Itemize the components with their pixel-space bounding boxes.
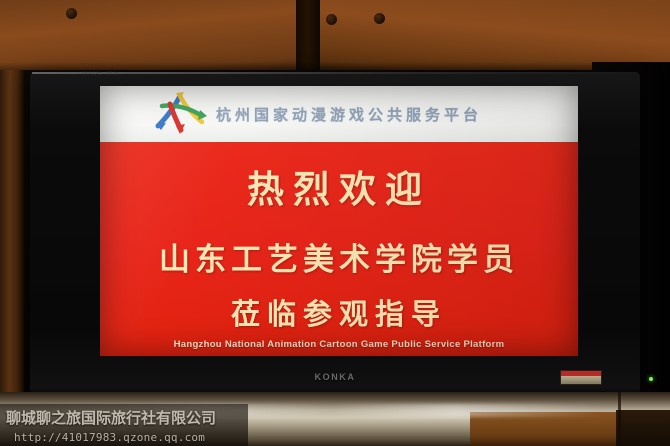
counter-seam: [618, 392, 621, 442]
tv-screen: 杭州国家动漫游戏公共服务平台 热烈欢迎 山东工艺美术学院学员 莅临参观指导 Ha…: [100, 86, 578, 356]
watermark-company-name: 聊城聊之旅国际旅行社有限公司: [0, 404, 248, 428]
counter-wood-panel-right: [616, 410, 670, 446]
slide-body: 热烈欢迎 山东工艺美术学院学员 莅临参观指导 Hangzhou National…: [100, 142, 578, 356]
tv-brand-label: KONKA: [30, 372, 640, 382]
room-scene: MADE JKS 杭州国家动漫游戏公共服务平台: [0, 0, 670, 446]
tv-bezel-model-text: MADE JKS: [82, 71, 152, 82]
ceiling-screw: [326, 14, 337, 25]
counter-wood-panel: [470, 412, 620, 446]
slide-header: 杭州国家动漫游戏公共服务平台: [100, 86, 578, 142]
slide-english-subtitle: Hangzhou National Animation Cartoon Game…: [100, 333, 578, 350]
left-wall-wood-trim: [0, 70, 24, 420]
slide-guest-line: 山东工艺美术学院学员: [100, 213, 578, 279]
slide-visit-line: 莅临参观指导: [100, 279, 578, 333]
television[interactable]: MADE JKS 杭州国家动漫游戏公共服务平台: [30, 72, 640, 394]
tv-power-led-icon: [649, 377, 653, 381]
slide-header-title: 杭州国家动漫游戏公共服务平台: [216, 104, 482, 125]
slide-welcome-line: 热烈欢迎: [100, 142, 578, 213]
ceiling-screw: [374, 13, 385, 24]
hangzhou-animation-platform-logo: [150, 90, 212, 138]
watermark-overlay: 聊城聊之旅国际旅行社有限公司 http://41017983.qzone.qq.…: [0, 404, 248, 446]
tv-bezel-sticker: [560, 370, 602, 385]
watermark-url[interactable]: http://41017983.qzone.qq.com: [0, 428, 248, 444]
ceiling-screw: [66, 8, 77, 19]
